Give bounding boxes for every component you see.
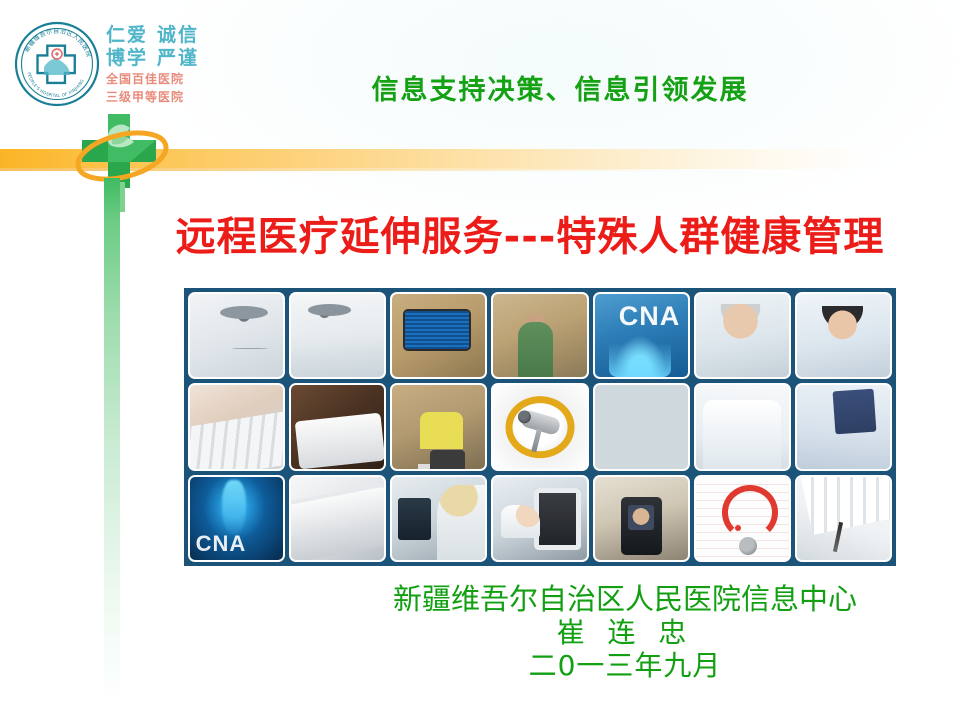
- collage-tile-keyboard-and-pen: [795, 475, 892, 562]
- collage-tile-operating-room-2: [289, 292, 386, 379]
- footer-block: 新疆维吾尔自治区人民医院信息中心 崔 连 忠 二0一三年九月: [330, 582, 920, 682]
- hospital-logo-text: 仁爱诚信 博学严谨 全国百佳医院 三级甲等医院: [106, 23, 199, 105]
- hospital-seal-icon: 新疆维吾尔自治区人民医院 PEOPLE'S HOSPITAL OF XINJIA…: [14, 21, 100, 107]
- hospital-accreditation-line-2: 三级甲等医院: [106, 90, 199, 105]
- collage-tile-hands-on-keyboard: [188, 383, 285, 470]
- collage-tile-security-camera: [491, 383, 588, 470]
- hospital-accreditation-line-1: 全国百佳医院: [106, 72, 199, 87]
- collage-tile-nurse-top: [795, 292, 892, 379]
- collage-tile-info-display-monitor: [390, 292, 487, 379]
- header-banner-text: 信息支持决策、信息引领发展: [250, 68, 870, 107]
- footer-author: 崔 连 忠: [330, 616, 920, 649]
- collage-tile-telepresence-robot: [593, 475, 690, 562]
- collage-tile-stethoscope-ecg: [694, 475, 791, 562]
- collage-tile-woman-at-computer: [390, 475, 487, 562]
- collage-tile-laptop-on-desk: [289, 383, 386, 470]
- collage-tile-nurse-bottom: [795, 383, 892, 470]
- page-title: 远程医疗延伸服务---特殊人群健康管理: [120, 204, 940, 262]
- collage-tile-knee-xray-cna: [188, 475, 285, 562]
- collage-tile-patient-in-wheelchair: [390, 383, 487, 470]
- collage-tile-printer-equipment: [289, 475, 386, 562]
- collage-tile-cna-digital-hand-lower: [593, 383, 690, 470]
- hospital-logo: 新疆维吾尔自治区人民医院 PEOPLE'S HOSPITAL OF XINJIA…: [14, 18, 229, 110]
- telemedicine-photo-collage: [184, 288, 896, 566]
- green-cross-dove-emblem: [62, 112, 184, 212]
- collage-tile-operating-room-1: [188, 292, 285, 379]
- collage-tile-senior-doctor-top: [694, 292, 791, 379]
- hospital-motto-line-1: 仁爱诚信: [106, 25, 199, 46]
- hospital-motto-line-2: 博学严谨: [106, 48, 199, 69]
- collage-tile-elevator-doctor: [491, 292, 588, 379]
- green-vertical-accent-strip: [104, 178, 120, 708]
- footer-organization: 新疆维吾尔自治区人民医院信息中心: [330, 582, 920, 616]
- collage-tile-cna-digital-hand: [593, 292, 690, 379]
- collage-tile-touchscreen-terminal: [491, 475, 588, 562]
- collage-tile-senior-doctor-bottom: [694, 383, 791, 470]
- footer-date: 二0一三年九月: [330, 649, 920, 682]
